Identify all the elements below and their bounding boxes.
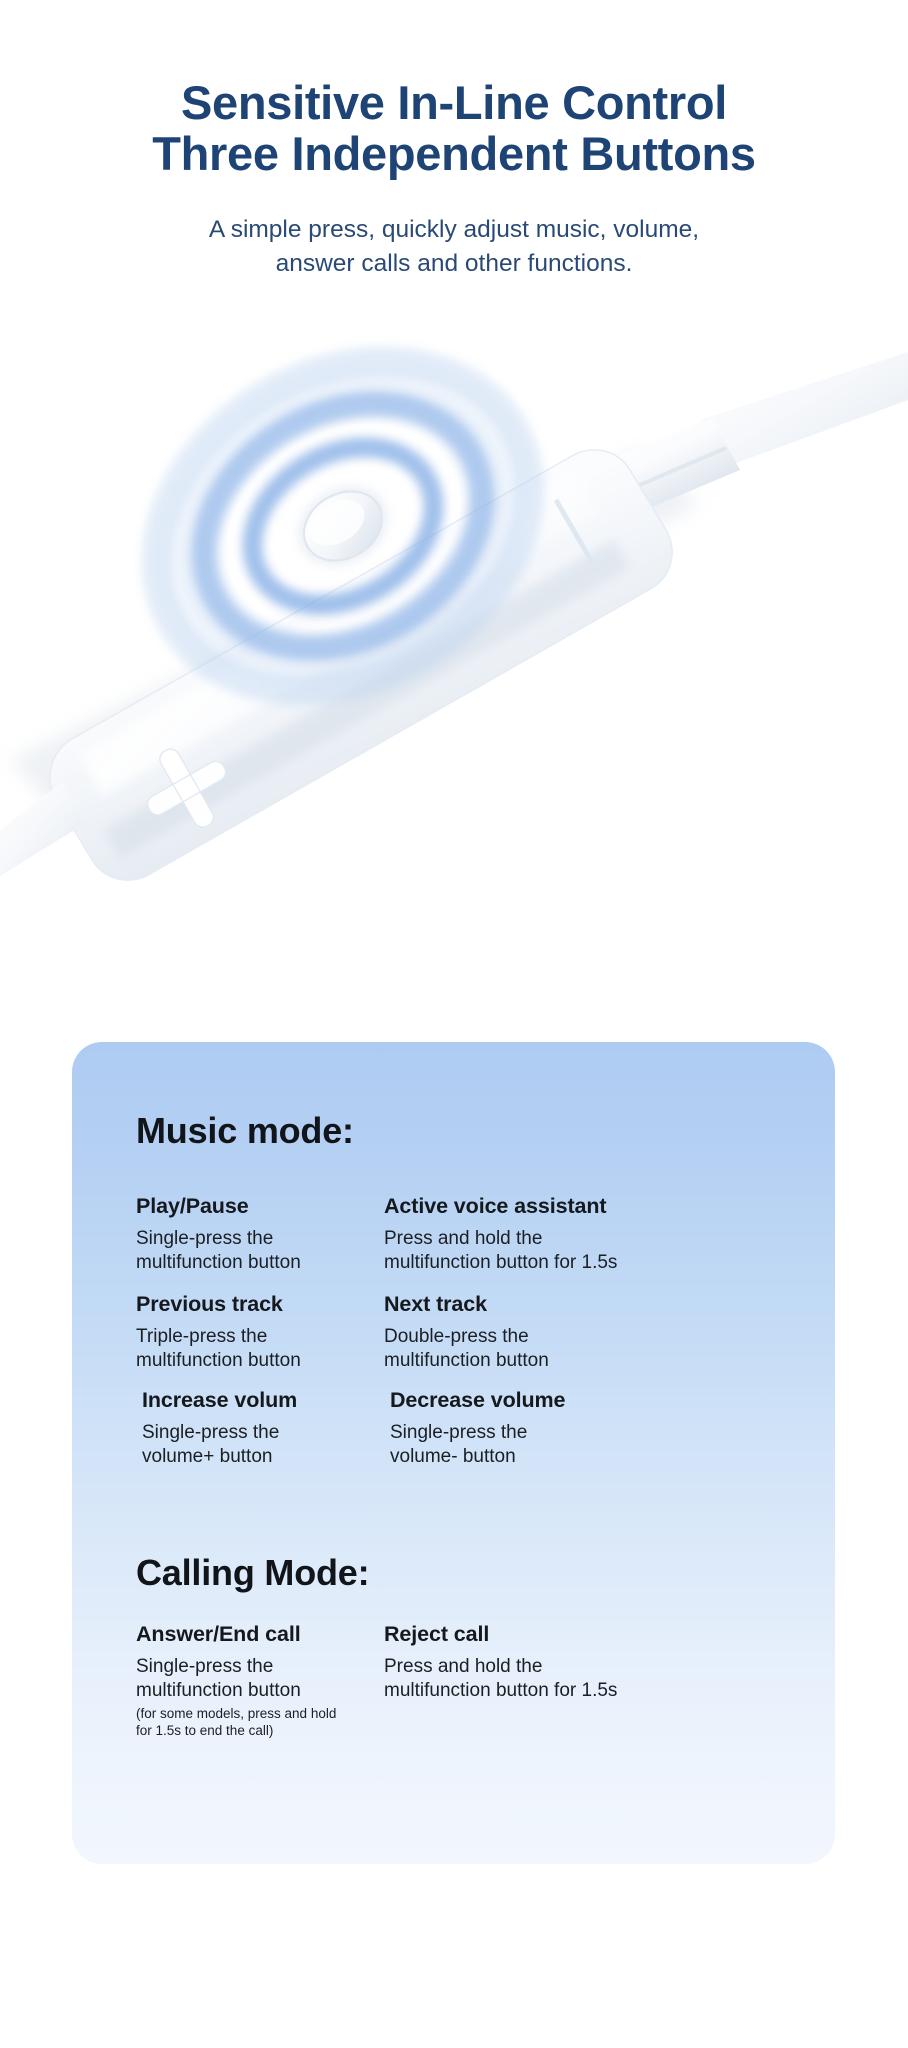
- function-item-play-pause: Play/Pause Single-press the multifunctio…: [136, 1194, 301, 1275]
- function-heading: Play/Pause: [136, 1194, 301, 1220]
- button-functions-card: Music mode: Play/Pause Single-press the …: [72, 1042, 835, 1864]
- desc-line-1: Triple-press the: [136, 1325, 301, 1349]
- note-line-1: (for some models, press and hold: [136, 1706, 336, 1722]
- desc-line-2: multifunction button: [384, 1349, 549, 1373]
- function-heading: Answer/End call: [136, 1622, 336, 1648]
- desc-line-1: Press and hold the: [384, 1655, 617, 1679]
- desc-line-2: multifunction button for 1.5s: [384, 1679, 617, 1703]
- function-item-voice-assistant: Active voice assistant Press and hold th…: [384, 1194, 617, 1275]
- function-item-increase-volume: Increase volum Single-press the volume+ …: [142, 1388, 297, 1469]
- function-description: Single-press the multifunction button: [136, 1655, 336, 1704]
- page-subtitle: A simple press, quickly adjust music, vo…: [0, 213, 908, 283]
- desc-line-2: volume+ button: [142, 1445, 297, 1469]
- title-line-1: Sensitive In-Line Control: [0, 78, 908, 129]
- function-heading: Decrease volume: [390, 1388, 565, 1414]
- subtitle-line-2: answer calls and other functions.: [0, 247, 908, 282]
- title-line-2: Three Independent Buttons: [0, 129, 908, 180]
- function-heading: Active voice assistant: [384, 1194, 617, 1220]
- function-item-answer-end-call: Answer/End call Single-press the multifu…: [136, 1622, 336, 1739]
- desc-line-2: multifunction button: [136, 1251, 301, 1275]
- function-note: (for some models, press and hold for 1.5…: [136, 1706, 336, 1739]
- desc-line-1: Single-press the: [136, 1227, 301, 1251]
- function-description: Single-press the volume- button: [390, 1421, 565, 1470]
- function-heading: Increase volum: [142, 1388, 297, 1414]
- function-item-decrease-volume: Decrease volume Single-press the volume-…: [390, 1388, 565, 1469]
- desc-line-2: multifunction button: [136, 1679, 336, 1703]
- function-heading: Next track: [384, 1292, 549, 1318]
- desc-line-1: Single-press the: [390, 1421, 565, 1445]
- function-description: Triple-press the multifunction button: [136, 1325, 301, 1374]
- calling-mode-title: Calling Mode:: [136, 1552, 369, 1594]
- desc-line-1: Press and hold the: [384, 1227, 617, 1251]
- function-description: Single-press the volume+ button: [142, 1421, 297, 1470]
- desc-line-2: multifunction button for 1.5s: [384, 1251, 617, 1275]
- function-description: Press and hold the multifunction button …: [384, 1227, 617, 1276]
- function-item-previous-track: Previous track Triple-press the multifun…: [136, 1292, 301, 1373]
- product-feature-page: Sensitive In-Line Control Three Independ…: [0, 0, 908, 2048]
- music-mode-title: Music mode:: [136, 1110, 354, 1152]
- function-heading: Reject call: [384, 1622, 617, 1648]
- desc-line-1: Single-press the: [136, 1655, 336, 1679]
- function-description: Double-press the multifunction button: [384, 1325, 549, 1374]
- header: Sensitive In-Line Control Three Independ…: [0, 0, 908, 282]
- function-description: Press and hold the multifunction button …: [384, 1655, 617, 1704]
- product-photo: [0, 330, 908, 1020]
- desc-line-1: Single-press the: [142, 1421, 297, 1445]
- desc-line-2: multifunction button: [136, 1349, 301, 1373]
- inline-control-illustration: [0, 330, 908, 1020]
- subtitle-line-1: A simple press, quickly adjust music, vo…: [0, 213, 908, 248]
- desc-line-2: volume- button: [390, 1445, 565, 1469]
- function-item-next-track: Next track Double-press the multifunctio…: [384, 1292, 549, 1373]
- page-title: Sensitive In-Line Control Three Independ…: [0, 0, 908, 180]
- note-line-2: for 1.5s to end the call): [136, 1723, 336, 1739]
- function-item-reject-call: Reject call Press and hold the multifunc…: [384, 1622, 617, 1703]
- function-heading: Previous track: [136, 1292, 301, 1318]
- function-description: Single-press the multifunction button: [136, 1227, 301, 1276]
- desc-line-1: Double-press the: [384, 1325, 549, 1349]
